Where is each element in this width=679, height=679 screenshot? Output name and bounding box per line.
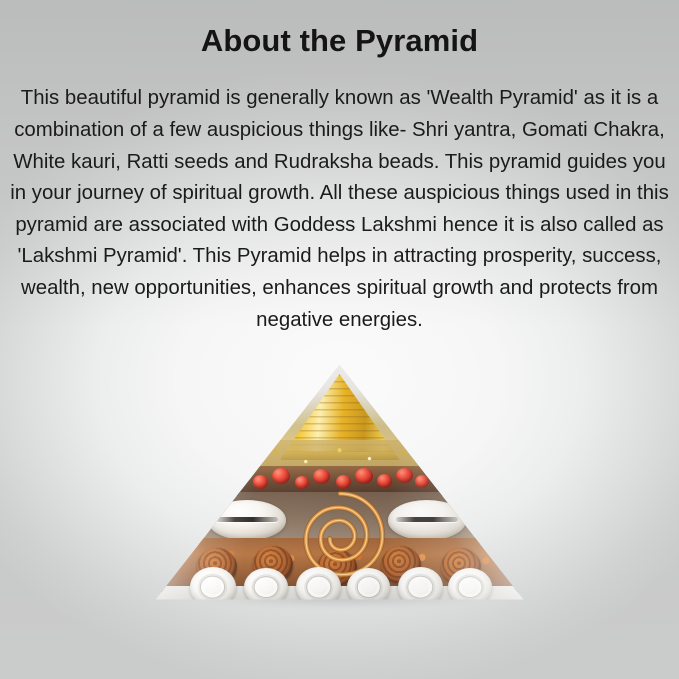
resin-sheen <box>152 362 527 612</box>
page-title: About the Pyramid <box>0 23 679 59</box>
pyramid-product-image <box>152 362 527 618</box>
ratti-seed <box>452 476 465 488</box>
pyramid-body <box>152 362 527 612</box>
product-description-card: About the Pyramid This beautiful pyramid… <box>0 0 679 679</box>
product-description-text: This beautiful pyramid is generally know… <box>8 83 671 336</box>
ratti-seed <box>231 470 248 485</box>
ratti-seed <box>433 470 449 485</box>
ratti-seed <box>212 476 225 488</box>
